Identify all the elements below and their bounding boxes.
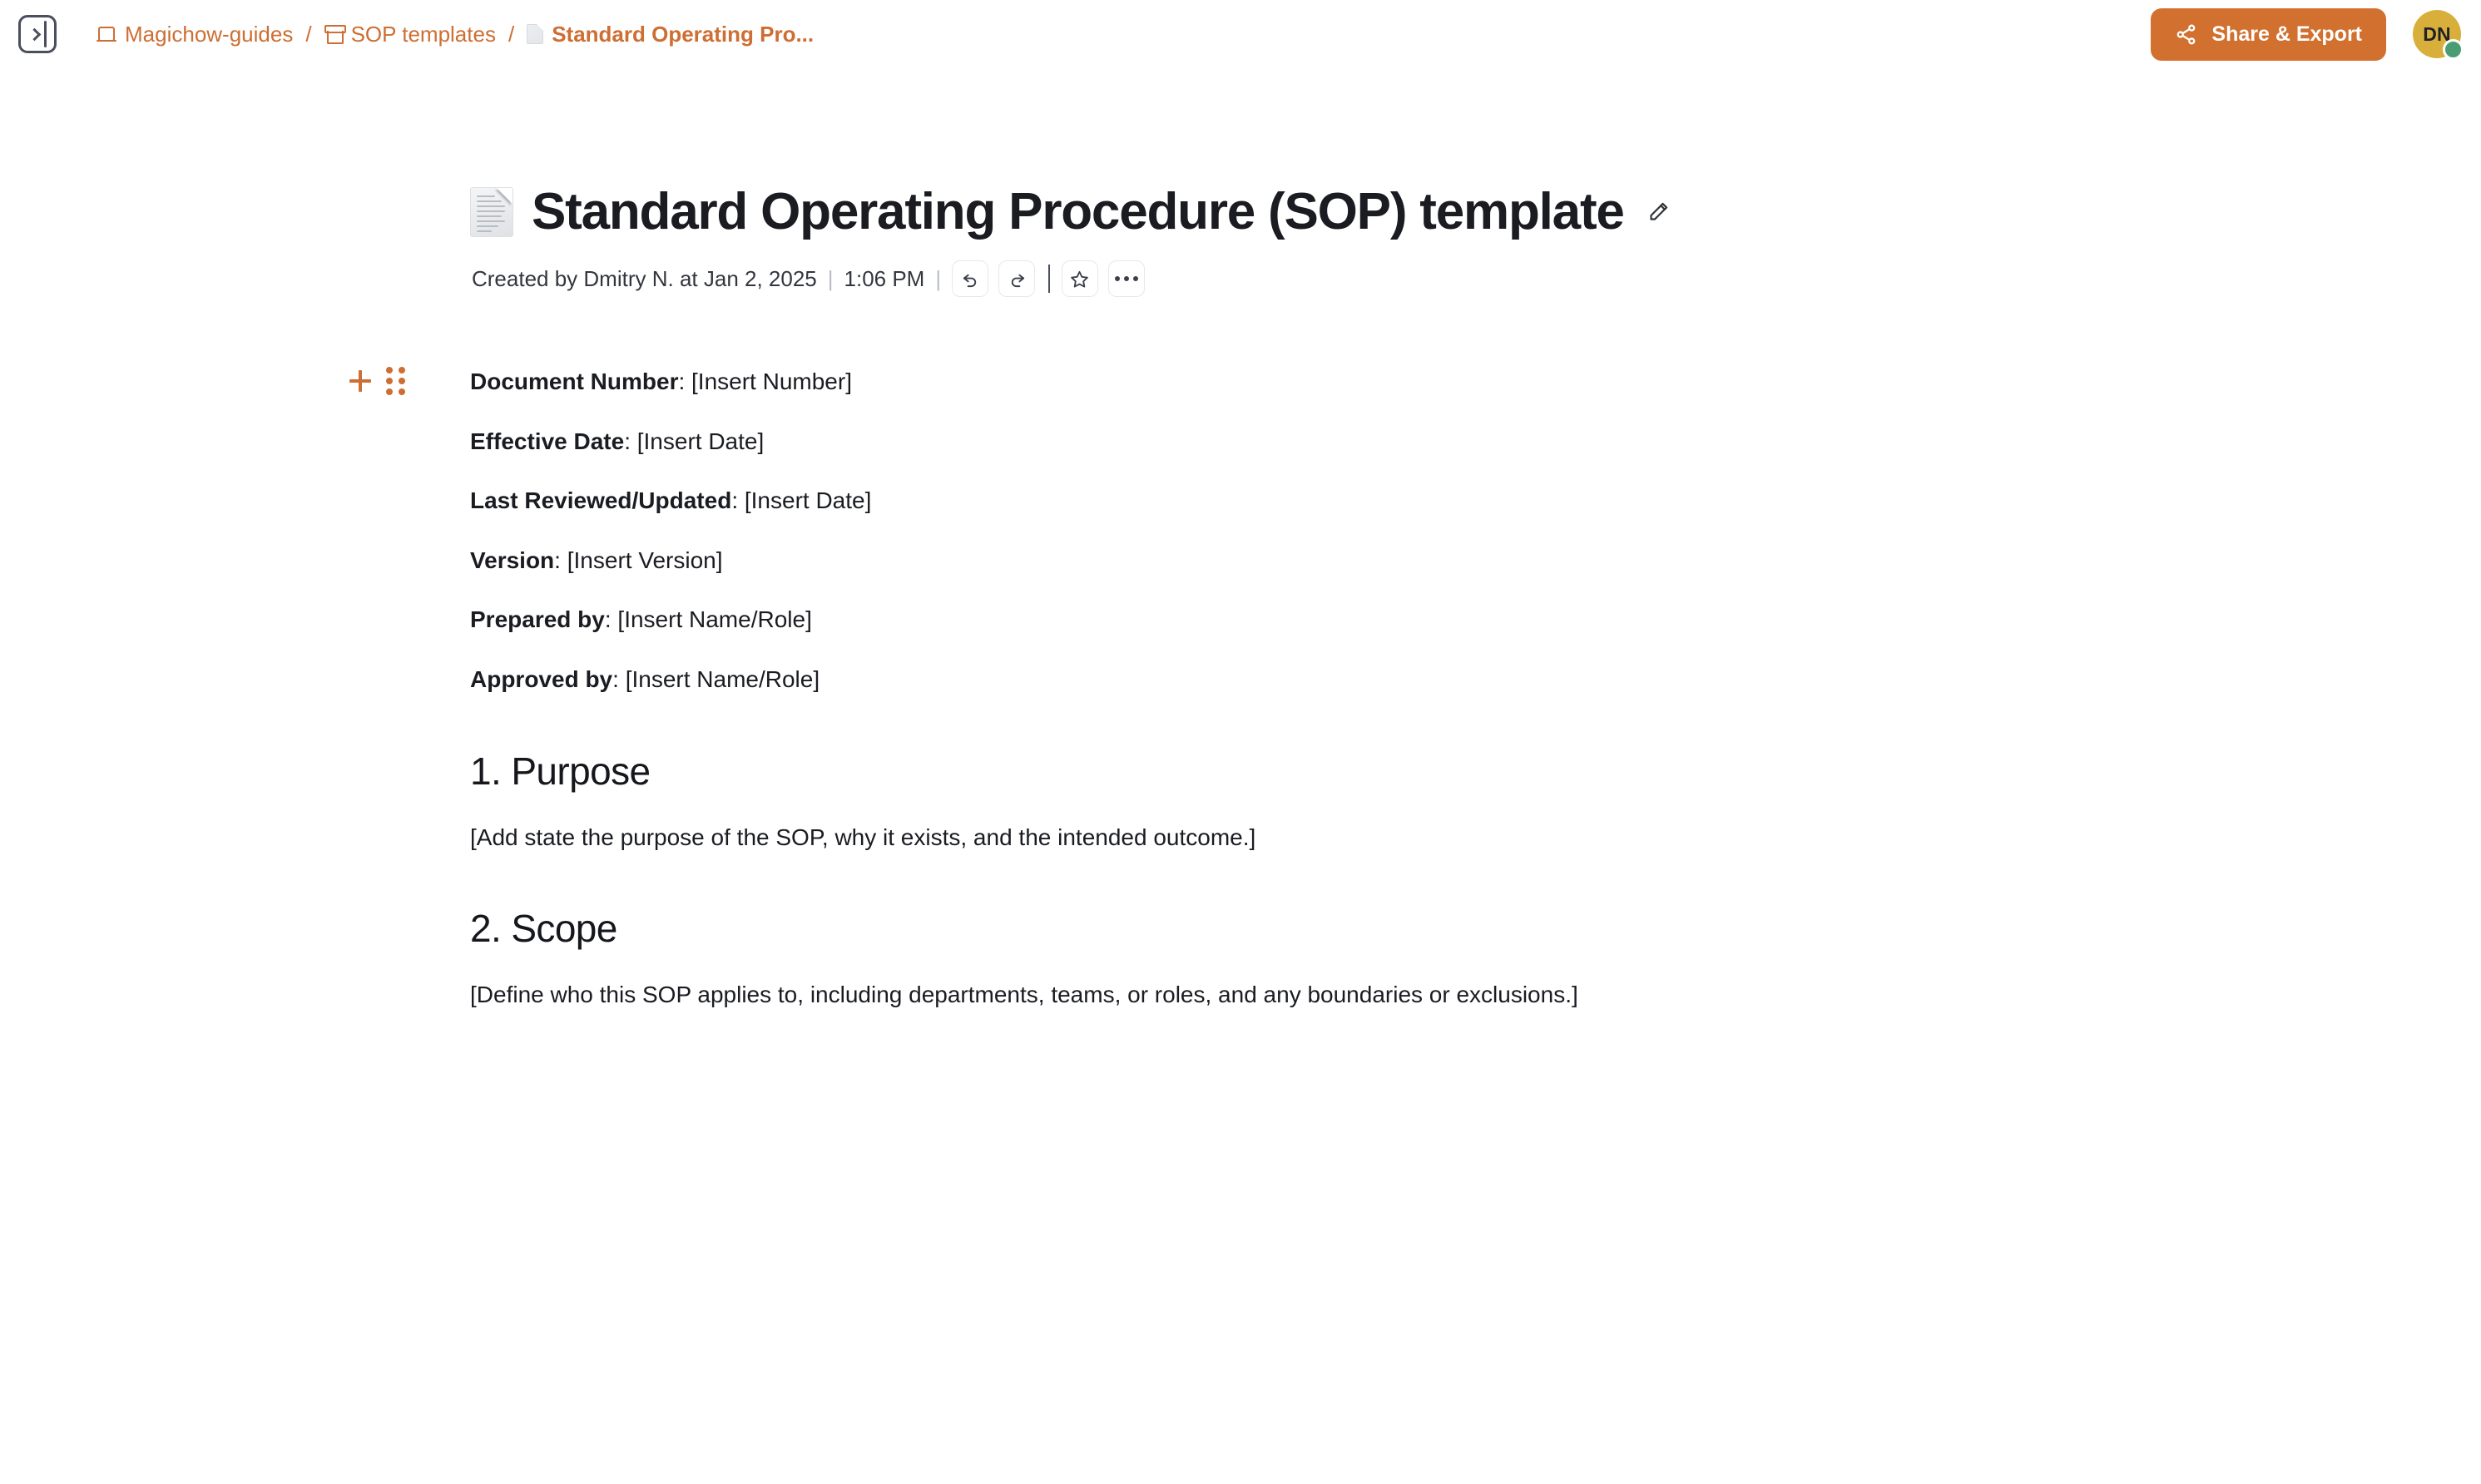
created-by-text: Created by Dmitry N. at Jan 2, 2025 <box>472 266 817 292</box>
box-icon <box>324 25 343 43</box>
field-value: [Insert Name/Role] <box>617 606 811 632</box>
breadcrumb-label: Standard Operating Pro... <box>552 22 814 47</box>
redo-icon <box>1008 270 1027 289</box>
field-value: [Insert Date] <box>637 428 765 454</box>
field-label: Effective Date <box>470 428 624 454</box>
document-canvas: Standard Operating Procedure (SOP) templ… <box>0 185 2481 1012</box>
share-icon <box>2175 23 2197 46</box>
field-label: Approved by <box>470 666 612 692</box>
block-prepared-by[interactable]: Prepared by: [Insert Name/Role] <box>470 603 2414 637</box>
section-heading-scope[interactable]: 2. Scope <box>470 906 2414 951</box>
share-and-export-label: Share & Export <box>2211 22 2362 47</box>
presence-indicator-icon <box>2443 39 2464 60</box>
field-value: [Insert Version] <box>567 547 723 573</box>
sidebar-bar-icon <box>44 21 47 47</box>
field-label: Prepared by <box>470 606 605 632</box>
page-title[interactable]: Standard Operating Procedure (SOP) templ… <box>532 185 1624 239</box>
field-label: Version <box>470 547 554 573</box>
document-icon <box>527 24 543 44</box>
block-approved-by[interactable]: Approved by: [Insert Name/Role] <box>470 663 2414 697</box>
block-handle <box>349 367 405 395</box>
field-separator: : <box>612 666 626 692</box>
sidebar-toggle-button[interactable] <box>18 15 57 53</box>
star-icon <box>1070 270 1089 289</box>
document-meta-row: Created by Dmitry N. at Jan 2, 2025 | 1:… <box>472 260 2414 297</box>
more-options-button[interactable] <box>1108 260 1145 297</box>
block-version[interactable]: Version: [Insert Version] <box>470 544 2414 578</box>
document-title-row: Standard Operating Procedure (SOP) templ… <box>470 185 2414 239</box>
field-label: Document Number <box>470 369 678 394</box>
laptop-icon <box>97 27 116 42</box>
breadcrumb-label: SOP templates <box>351 22 496 47</box>
top-bar: Magichow-guides / SOP templates / Standa… <box>0 0 2481 68</box>
meta-divider: | <box>924 266 952 292</box>
breadcrumb-separator: / <box>293 22 324 47</box>
drag-handle-icon[interactable] <box>386 367 405 395</box>
document-blocks: Document Number: [Insert Number] Effecti… <box>470 365 2414 1012</box>
created-time-text: 1:06 PM <box>844 266 925 292</box>
field-value: [Insert Number] <box>691 369 852 394</box>
meta-divider: | <box>817 266 844 292</box>
pencil-icon[interactable] <box>1647 200 1670 223</box>
field-value: [Insert Date] <box>745 487 872 513</box>
field-separator: : <box>554 547 567 573</box>
field-separator: : <box>678 369 691 394</box>
block-effective-date[interactable]: Effective Date: [Insert Date] <box>470 425 2414 459</box>
field-separator: : <box>731 487 745 513</box>
field-label: Last Reviewed/Updated <box>470 487 731 513</box>
undo-button[interactable] <box>952 260 988 297</box>
toolbar-divider <box>1048 265 1050 293</box>
user-avatar[interactable]: DN <box>2413 10 2461 58</box>
field-separator: : <box>624 428 637 454</box>
breadcrumb: Magichow-guides / SOP templates / Standa… <box>97 22 814 47</box>
share-and-export-button[interactable]: Share & Export <box>2151 8 2386 61</box>
breadcrumb-separator: / <box>496 22 527 47</box>
breadcrumb-item-magichow-guides[interactable]: Magichow-guides <box>97 22 293 47</box>
chevron-right-icon <box>28 27 42 41</box>
block-last-reviewed-updated[interactable]: Last Reviewed/Updated: [Insert Date] <box>470 484 2414 518</box>
page-document-emoji-icon[interactable] <box>470 187 513 237</box>
redo-button[interactable] <box>998 260 1035 297</box>
field-value: [Insert Name/Role] <box>626 666 820 692</box>
breadcrumb-item-current-document[interactable]: Standard Operating Pro... <box>527 22 814 47</box>
favorite-button[interactable] <box>1062 260 1098 297</box>
undo-icon <box>961 270 980 289</box>
section-body-purpose[interactable]: [Add state the purpose of the SOP, why i… <box>470 821 2414 855</box>
field-separator: : <box>605 606 618 632</box>
block-document-number[interactable]: Document Number: [Insert Number] <box>470 365 2414 399</box>
add-block-icon[interactable] <box>349 370 371 392</box>
section-body-scope[interactable]: [Define who this SOP applies to, includi… <box>470 978 2414 1012</box>
breadcrumb-item-sop-templates[interactable]: SOP templates <box>324 22 496 47</box>
top-bar-actions: Share & Export DN <box>2151 8 2461 61</box>
breadcrumb-label: Magichow-guides <box>125 22 293 47</box>
ellipsis-icon <box>1115 276 1138 281</box>
section-heading-purpose[interactable]: 1. Purpose <box>470 749 2414 794</box>
